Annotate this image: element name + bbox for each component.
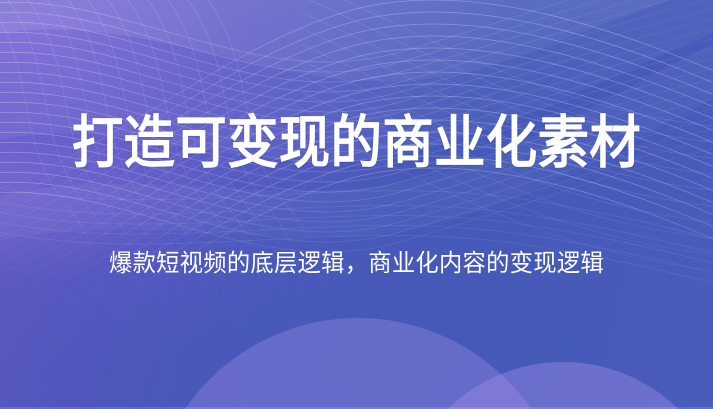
- banner-subtitle: 爆款短视频的底层逻辑，商业化内容的变现逻辑: [11, 250, 703, 279]
- banner-text-layer: 打造可变现的商业化素材 爆款短视频的底层逻辑，商业化内容的变现逻辑: [0, 0, 713, 409]
- banner-title: 打造可变现的商业化素材: [36, 114, 678, 174]
- course-banner: 打造可变现的商业化素材 爆款短视频的底层逻辑，商业化内容的变现逻辑: [0, 0, 713, 409]
